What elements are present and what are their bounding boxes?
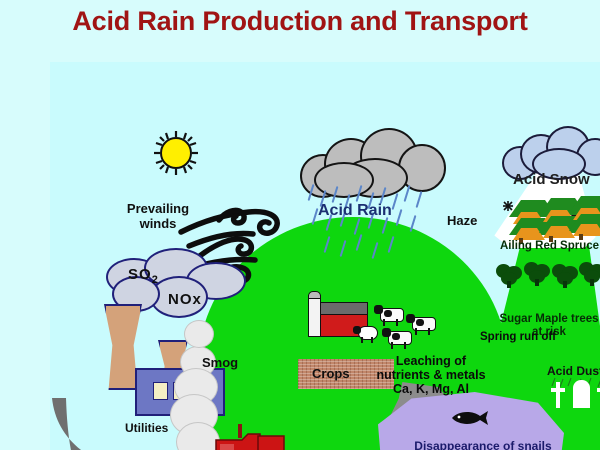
truck-smoke — [184, 320, 214, 348]
maple-tree-icon — [579, 262, 600, 286]
spruce-tree-icon — [569, 196, 593, 240]
label-leaching: Leaching of nutrients & metals Ca, K, Mg… — [372, 354, 490, 396]
label-acid-dust: Acid Dust — [547, 365, 600, 378]
label-prevailing-winds: Prevailing winds — [118, 202, 198, 231]
label-spring-runoff: Spring run off — [480, 331, 556, 344]
label-utilities: Utilities — [125, 422, 168, 435]
label-acid-snow: Acid Snow — [513, 172, 590, 189]
diagram-panel: Prevailing winds SO2 NOx Smog Utilities … — [50, 62, 600, 450]
sun-icon — [153, 130, 199, 176]
truck-icon — [208, 422, 286, 450]
label-so2: SO2 — [128, 267, 159, 286]
label-ailing-red-spruce: Ailing Red Spruce — [500, 240, 599, 253]
label-haze: Haze — [447, 214, 477, 229]
label-nox: NOx — [168, 292, 202, 309]
gravestone-group — [551, 380, 600, 410]
label-smog: Smog — [202, 356, 238, 371]
maple-tree-icon — [552, 264, 578, 288]
cross-icon — [551, 382, 565, 408]
label-disappearance: Disappearance of snails frogs and fish — [413, 440, 553, 450]
acid-rain-diagram-slide: Acid Rain Production and Transport — [0, 0, 600, 450]
maple-tree-icon — [496, 264, 522, 288]
gravestone-icon — [573, 380, 590, 408]
fish-icon — [450, 410, 488, 426]
label-acid-rain: Acid Rain — [318, 202, 392, 220]
spruce-tree-icon — [539, 198, 563, 242]
maple-tree-icon — [524, 262, 550, 286]
label-crops: Crops — [312, 367, 350, 382]
rain-streaks — [308, 184, 438, 270]
spruce-tree-icon — [509, 200, 533, 244]
page-title: Acid Rain Production and Transport — [0, 6, 600, 37]
sun-disc — [160, 137, 192, 169]
